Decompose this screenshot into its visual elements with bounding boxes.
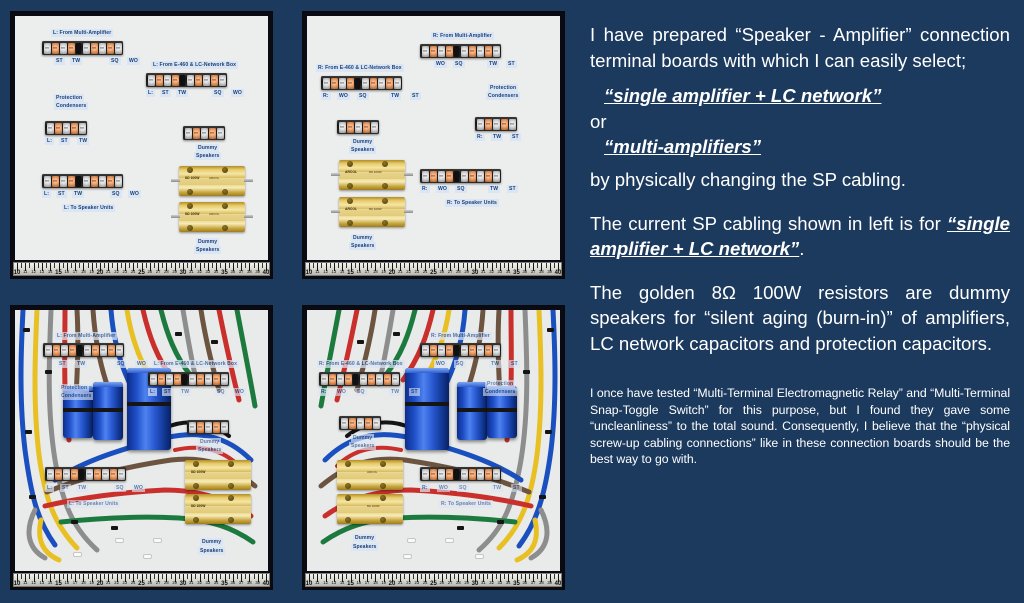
ruler-number: 12 [31,580,36,586]
ruler-tick [429,263,430,268]
terminal-screw[interactable] [362,78,369,89]
terminal-divider [77,345,82,356]
slide-root: L: From Multi-Amplifier ST TW SQ WO [0,0,1024,603]
ruler-number: 15 [55,270,62,276]
terminal-screw[interactable] [91,176,98,187]
label-term-tw: TW [70,57,82,65]
terminal-screw[interactable] [83,43,90,54]
ruler-tick [79,574,80,579]
label-protection-condensers-1: Protection [488,84,518,92]
terminal-screw[interactable] [55,123,62,134]
terminal-screw[interactable] [438,469,445,480]
ruler-number: 37 [239,269,244,275]
terminal-screw[interactable] [370,78,377,89]
terminal-divider [79,469,84,480]
terminal-screw[interactable] [52,176,59,187]
terminal-screw[interactable] [360,374,367,385]
ruler-number: 16 [356,269,361,275]
terminal-screw[interactable] [509,119,516,130]
ruler-number: 25 [138,270,145,276]
terminal-screw[interactable] [376,374,383,385]
terminal-screw[interactable] [321,374,328,385]
terminal-screw[interactable] [485,171,492,182]
terminal-screw[interactable] [83,176,90,187]
label-term-wo: WO [436,185,449,193]
resistor-power-label: 8Ω 100W [367,504,380,508]
ruler-number: 31 [189,269,194,275]
terminal-screw[interactable] [115,176,122,187]
terminal-screw[interactable] [61,345,68,356]
terminal-screw[interactable] [99,176,106,187]
resistor-lead [244,179,253,182]
terminal-screw[interactable] [45,345,52,356]
panel-bottom-right[interactable]: ARCOL 8Ω 100W [302,305,565,590]
terminal-screw[interactable] [422,46,429,57]
resistor-brand-label: ARCOL [209,176,219,180]
ruler-tick [46,263,47,268]
ruler-number: 33 [498,269,503,275]
ruler-number: 25 [430,581,437,587]
resistor-mount-hole [382,220,388,226]
ruler-number: 33 [498,580,503,586]
ruler-tick [330,263,331,268]
ruler-number: 38 [247,269,252,275]
terminal-screw[interactable] [69,345,76,356]
terminal-strip-network-box[interactable] [146,73,227,87]
ruler-tick [479,574,480,579]
terminal-screw[interactable] [100,345,107,356]
ruler-number: 25 [430,270,437,276]
terminal-screw[interactable] [368,374,375,385]
ruler-tick [121,263,122,268]
cable-tie [175,332,182,336]
terminal-screw[interactable] [102,469,109,480]
terminal-screw[interactable] [71,469,78,480]
ruler-tick [245,263,246,268]
label-dummy-speakers-1b: Speakers [194,152,221,160]
ruler-number: 34 [214,269,219,275]
ruler-number: 11 [23,269,27,275]
ruler-number: 21 [106,269,111,275]
terminal-screw[interactable] [349,418,356,429]
terminal-screw[interactable] [156,75,163,86]
terminal-screw[interactable] [347,78,354,89]
terminal-screw[interactable] [55,469,62,480]
terminal-screw[interactable] [60,43,67,54]
terminal-screw[interactable] [221,422,228,433]
label-term-tw: TW [487,60,499,68]
terminal-screw[interactable] [189,374,196,385]
terminal-screw[interactable] [477,469,484,480]
terminal-screw[interactable] [91,43,98,54]
terminal-screw[interactable] [363,122,370,133]
terminal-divider [76,43,81,54]
label-term-l: L: [45,484,54,492]
terminal-screw[interactable] [461,46,468,57]
terminal-strip-dummy[interactable] [339,416,381,430]
terminal-strip-network-box[interactable] [321,76,402,90]
label-dummy-speakers-2b: Speakers [194,246,221,254]
ruler-number: 36 [230,269,235,275]
cable-tie [63,408,93,412]
label-term-tw: TW [491,133,503,141]
terminal-screw[interactable] [217,128,224,139]
terminal-screw[interactable] [164,75,171,86]
ruler-number: 37 [239,580,244,586]
ruler-number: 27 [156,269,161,275]
label-protection-condensers-2: Condensers [59,392,93,400]
terminal-screw[interactable] [373,418,380,429]
ruler-scale: 1011121314151617181920212223242526272829… [13,573,270,587]
terminal-screw[interactable] [365,418,372,429]
terminal-screw[interactable] [63,123,70,134]
resistor-mount-hole [222,189,228,195]
ruler-number: 22 [114,269,119,275]
terminal-screw[interactable] [52,43,59,54]
resistor-mount-hole [193,461,199,467]
cable-tie [487,408,517,412]
ruler-tick [137,574,138,579]
terminal-screw[interactable] [469,46,476,57]
terminal-screw[interactable] [493,171,500,182]
terminal-screw[interactable] [99,43,106,54]
terminal-screw[interactable] [201,128,208,139]
ruler-number: 35 [513,270,520,276]
label-from-network-box: R: From E-460 & LC-Network Box [317,360,405,368]
ruler-tick [146,263,147,268]
terminal-screw[interactable] [493,46,500,57]
ruler-tick [171,263,172,268]
ruler-tick [554,263,555,268]
panel-top-left[interactable]: L: From Multi-Amplifier ST TW SQ WO [10,11,273,279]
ruler-tick [421,574,422,579]
ruler-tick [346,574,347,579]
terminal-screw[interactable] [371,122,378,133]
terminal-screw[interactable] [357,418,364,429]
panel-top-right[interactable]: R: From Multi-Amplifier WO SQ TW ST [302,11,565,279]
terminal-screw[interactable] [71,123,78,134]
board-mount-clip [73,552,82,557]
terminal-screw[interactable] [493,345,500,356]
board-top-right: R: From Multi-Amplifier WO SQ TW ST [307,16,560,260]
terminal-screw[interactable] [485,119,492,130]
ruler-number: 24 [131,269,136,275]
label-from-multi-amplifier: R: From Multi-Amplifier [429,332,492,340]
terminal-screw[interactable] [213,374,220,385]
label-term-tw: TW [76,484,88,492]
terminal-screw[interactable] [329,374,336,385]
terminal-screw[interactable] [501,119,508,130]
cable-tie [457,408,487,412]
resistor-brand-label: ARCOL [367,470,377,474]
terminal-screw[interactable] [355,122,362,133]
ruler-number: 19 [381,580,386,586]
terminal-strip-network-box[interactable] [319,372,400,386]
terminal-screw[interactable] [337,374,344,385]
terminal-strip-multi-amp[interactable] [420,44,501,58]
terminal-screw[interactable] [150,374,157,385]
ruler-tick [404,574,405,579]
terminal-screw[interactable] [205,422,212,433]
terminal-screw[interactable] [118,469,125,480]
terminal-screw[interactable] [47,123,54,134]
resistor-power-label: 8Ω 100W [369,207,382,211]
ruler-tick [38,574,39,579]
ruler-number: 14 [340,269,345,275]
cable-tie [127,402,171,406]
ruler-tick [429,574,430,579]
ruler-number: 18 [81,580,86,586]
terminal-screw[interactable] [148,75,155,86]
terminal-screw[interactable] [430,46,437,57]
terminal-divider [76,176,81,187]
terminal-screw[interactable] [477,345,484,356]
terminal-screw[interactable] [422,345,429,356]
terminal-strip-to-speakers[interactable] [45,467,126,481]
label-term-sq: SQ [115,360,127,368]
ruler-tick [204,574,205,579]
terminal-screw[interactable] [107,176,114,187]
terminal-screw[interactable] [446,469,453,480]
panel-bottom-left[interactable]: 8Ω 100W 8Ω 100W [10,305,273,590]
terminal-screw[interactable] [461,171,468,182]
label-term-tw: TW [389,92,401,100]
terminal-screw[interactable] [345,374,352,385]
terminal-strip-network-box[interactable] [148,372,229,386]
ruler-tick [479,263,480,268]
terminal-strip-protection[interactable] [475,117,517,131]
ruler-tick [229,263,230,268]
ruler-number: 30 [472,581,479,587]
terminal-strip-multi-amp[interactable] [420,343,501,357]
terminal-screw[interactable] [110,469,117,480]
terminal-screw[interactable] [485,46,492,57]
terminal-screw[interactable] [44,176,51,187]
ruler-number: 22 [406,580,411,586]
terminal-screw[interactable] [86,469,93,480]
ruler-number: 13 [332,580,337,586]
ruler-tick [254,574,255,579]
ruler-tick [88,263,89,268]
ruler-number: 17 [365,580,370,586]
terminal-screw[interactable] [60,176,67,187]
terminal-screw[interactable] [44,43,51,54]
terminal-screw[interactable] [68,43,75,54]
ruler-number: 20 [389,270,396,276]
label-term-wo: WO [437,484,450,492]
terminal-strip-to-speakers[interactable] [42,174,123,188]
terminal-screw[interactable] [331,78,338,89]
terminal-screw[interactable] [493,469,500,480]
terminal-strip-dummy[interactable] [187,420,229,434]
terminal-screw[interactable] [341,418,348,429]
terminal-screw[interactable] [461,469,468,480]
terminal-screw[interactable] [189,422,196,433]
terminal-strip-protection[interactable] [45,121,87,135]
terminal-screw[interactable] [461,345,468,356]
label-term-st: ST [59,137,70,145]
terminal-screw[interactable] [94,469,101,480]
ruler-number: 10 [306,581,313,587]
terminal-screw[interactable] [92,345,99,356]
terminal-screw[interactable] [197,422,204,433]
board-bottom-right: ARCOL 8Ω 100W [307,310,560,571]
terminal-screw[interactable] [339,122,346,133]
terminal-screw[interactable] [430,469,437,480]
terminal-screw[interactable] [438,345,445,356]
ruler-tick [229,574,230,579]
terminal-screw[interactable] [185,128,192,139]
ruler-number: 40 [263,270,270,276]
terminal-screw[interactable] [438,46,445,57]
resistor-mount-hole [228,461,234,467]
terminal-divider [454,345,459,356]
ruler-tick [463,574,464,579]
terminal-screw[interactable] [53,345,60,356]
terminal-screw[interactable] [108,345,115,356]
terminal-screw[interactable] [485,469,492,480]
label-from-multi-amplifier: R: From Multi-Amplifier [431,32,494,40]
resistor-lead [331,210,340,213]
terminal-screw[interactable] [84,345,91,356]
ruler-tick [237,263,238,268]
terminal-screw[interactable] [187,75,194,86]
cable-tie [45,370,52,374]
label-term-sq: SQ [215,388,227,396]
cable-tie [393,332,400,336]
ruler-tick [338,574,339,579]
terminal-screw[interactable] [386,78,393,89]
cable-tie [29,495,36,499]
terminal-divider [353,374,358,385]
label-term-wo: WO [135,360,148,368]
terminal-screw[interactable] [469,345,476,356]
terminal-screw[interactable] [384,374,391,385]
terminal-screw[interactable] [158,374,165,385]
terminal-screw[interactable] [213,422,220,433]
dummy-speaker-resistor: ARCOL 8Ω 100W [335,160,409,190]
terminal-screw[interactable] [477,171,484,182]
terminal-screw[interactable] [446,46,453,57]
terminal-screw[interactable] [392,374,399,385]
label-term-sq: SQ [455,185,467,193]
terminal-screw[interactable] [174,374,181,385]
ruler-number: 19 [89,580,94,586]
resistor-mount-hole [347,220,353,226]
ruler-number: 21 [106,580,111,586]
terminal-screw[interactable] [193,128,200,139]
terminal-screw[interactable] [203,75,210,86]
ruler-tick [129,263,130,268]
ruler-number: 38 [539,269,544,275]
terminal-screw[interactable] [323,78,330,89]
terminal-screw[interactable] [446,345,453,356]
terminal-screw[interactable] [378,78,385,89]
terminal-screw[interactable] [477,119,484,130]
terminal-screw[interactable] [430,171,437,182]
terminal-screw[interactable] [469,469,476,480]
label-term-tw: TW [489,360,501,368]
label-term-sq: SQ [110,190,122,198]
ruler-tick [521,574,522,579]
ruler-tick [204,263,205,268]
resistor-mount-hole [187,189,193,195]
terminal-screw[interactable] [107,43,114,54]
terminal-screw[interactable] [446,171,453,182]
terminal-screw[interactable] [195,75,202,86]
label-term-wo: WO [434,60,447,68]
terminal-screw[interactable] [485,345,492,356]
terminal-screw[interactable] [221,374,228,385]
terminal-screw[interactable] [477,46,484,57]
ruler-number: 24 [131,580,136,586]
cable-tie [93,408,123,412]
ruler-tick [321,263,322,268]
cable-tie [523,370,530,374]
label-term-sq: SQ [453,60,465,68]
terminal-strip-dummy-1[interactable] [337,120,379,134]
ruler-number: 28 [456,580,461,586]
ruler-number: 23 [123,269,128,275]
terminal-screw[interactable] [63,469,70,480]
terminal-strip-to-speakers[interactable] [420,169,501,183]
terminal-strip-to-speakers[interactable] [420,467,501,481]
terminal-screw[interactable] [47,469,54,480]
ruler-tick [220,263,221,268]
resistor-lead [171,215,180,218]
label-term-st: ST [511,484,522,492]
terminal-strip-multi-amp[interactable] [43,343,124,357]
label-term-tw: TW [488,185,500,193]
terminal-screw[interactable] [172,75,179,86]
terminal-screw[interactable] [347,122,354,133]
terminal-screw[interactable] [219,75,226,86]
ruler-number: 37 [531,580,536,586]
terminal-screw[interactable] [422,469,429,480]
label-term-st: ST [509,360,520,368]
terminal-screw[interactable] [205,374,212,385]
ruler-number: 13 [332,269,337,275]
ruler-number: 33 [206,580,211,586]
terminal-screw[interactable] [438,171,445,182]
ruler-tick [262,263,263,268]
terminal-screw[interactable] [115,43,122,54]
ruler-tick [355,574,356,579]
resistor-power-label: 8Ω 100W [191,504,205,508]
terminal-screw[interactable] [339,78,346,89]
resistor-mount-hole [380,495,386,501]
ruler-number: 26 [439,580,444,586]
terminal-strip-multi-amp[interactable] [42,41,123,55]
ruler-number: 15 [347,581,354,587]
terminal-screw[interactable] [166,374,173,385]
terminal-strip-dummy-1[interactable] [183,126,225,140]
terminal-screw[interactable] [209,128,216,139]
terminal-screw[interactable] [394,78,401,89]
terminal-screw[interactable] [197,374,204,385]
terminal-screw[interactable] [422,171,429,182]
terminal-screw[interactable] [469,171,476,182]
terminal-screw[interactable] [79,123,86,134]
terminal-screw[interactable] [211,75,218,86]
resistor-lead [171,179,180,182]
terminal-screw[interactable] [116,345,123,356]
label-term-tw: TW [491,484,503,492]
terminal-screw[interactable] [493,119,500,130]
terminal-screw[interactable] [68,176,75,187]
terminal-screw[interactable] [430,345,437,356]
ruler-number: 40 [555,270,562,276]
